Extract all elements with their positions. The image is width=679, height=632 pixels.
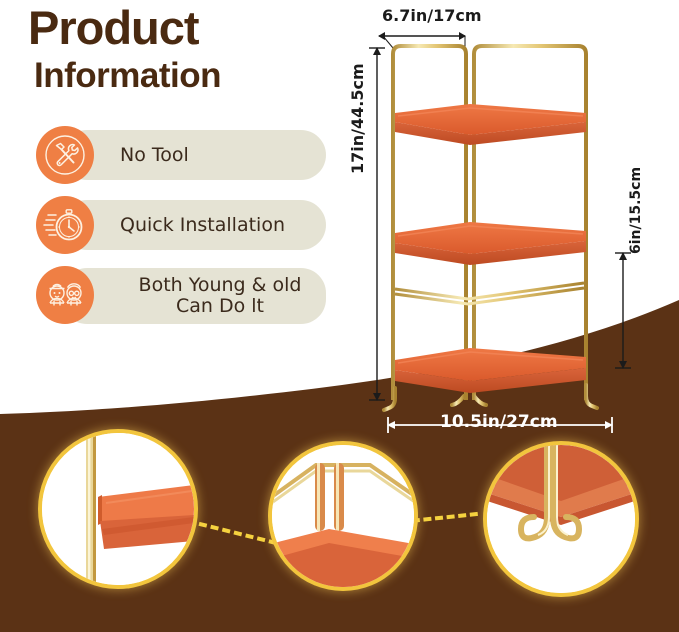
page-title-line-2: Information [34, 54, 328, 98]
feature-item-quick-installation: Quick Installation [36, 196, 326, 254]
feature-pill: Quick Installation [62, 200, 326, 250]
rack-cross-brace [395, 283, 584, 304]
page-title-line-1: Product [28, 2, 328, 54]
rack-frame-left [393, 46, 466, 400]
young-and-old-faces-icon [36, 266, 94, 324]
shelf-bottom [395, 348, 586, 393]
shelf-middle [395, 222, 586, 265]
stopwatch-icon [36, 196, 94, 254]
shelf-top [395, 104, 586, 145]
detail-callouts [0, 420, 679, 632]
feature-label-line-2: Can Do lt [176, 295, 264, 317]
rack-frame-right [474, 46, 586, 400]
feature-item-no-tool: No Tool [36, 126, 326, 184]
page-title: Product Information [28, 2, 328, 98]
feature-pill: Both Young & old Can Do lt [62, 268, 326, 324]
dashed-connector-1 [187, 519, 277, 545]
callout-foot-hook-detail [487, 445, 635, 593]
feature-label: No Tool [120, 145, 189, 166]
feature-label: Quick Installation [120, 215, 285, 236]
feature-pill: No Tool [62, 130, 326, 180]
left-dimension-arrow [369, 47, 385, 401]
product-information-infographic: Product Information No Tool [0, 0, 679, 632]
feature-item-young-and-old: Both Young & old Can Do lt [36, 266, 326, 324]
hammer-wrench-icon [36, 126, 94, 184]
feature-label: Both Young & old Can Do lt [120, 275, 318, 317]
right-dimension-arrow [615, 252, 631, 369]
product-dimension-diagram: 6.7in/17cm 17in/44.5cm 6in/15.5cm 10.5in… [340, 0, 679, 450]
feature-list: No Tool Quick Installation [36, 126, 326, 336]
callout-corner-rod-detail [272, 445, 414, 587]
feature-label-line-1: Both Young & old [139, 274, 302, 296]
dimension-label-tier-height: 6in/15.5cm [628, 167, 644, 254]
dimension-label-top-width: 6.7in/17cm [382, 6, 481, 25]
dimension-label-total-height: 17in/44.5cm [348, 63, 367, 174]
callout-shelf-edge-detail [42, 433, 194, 585]
